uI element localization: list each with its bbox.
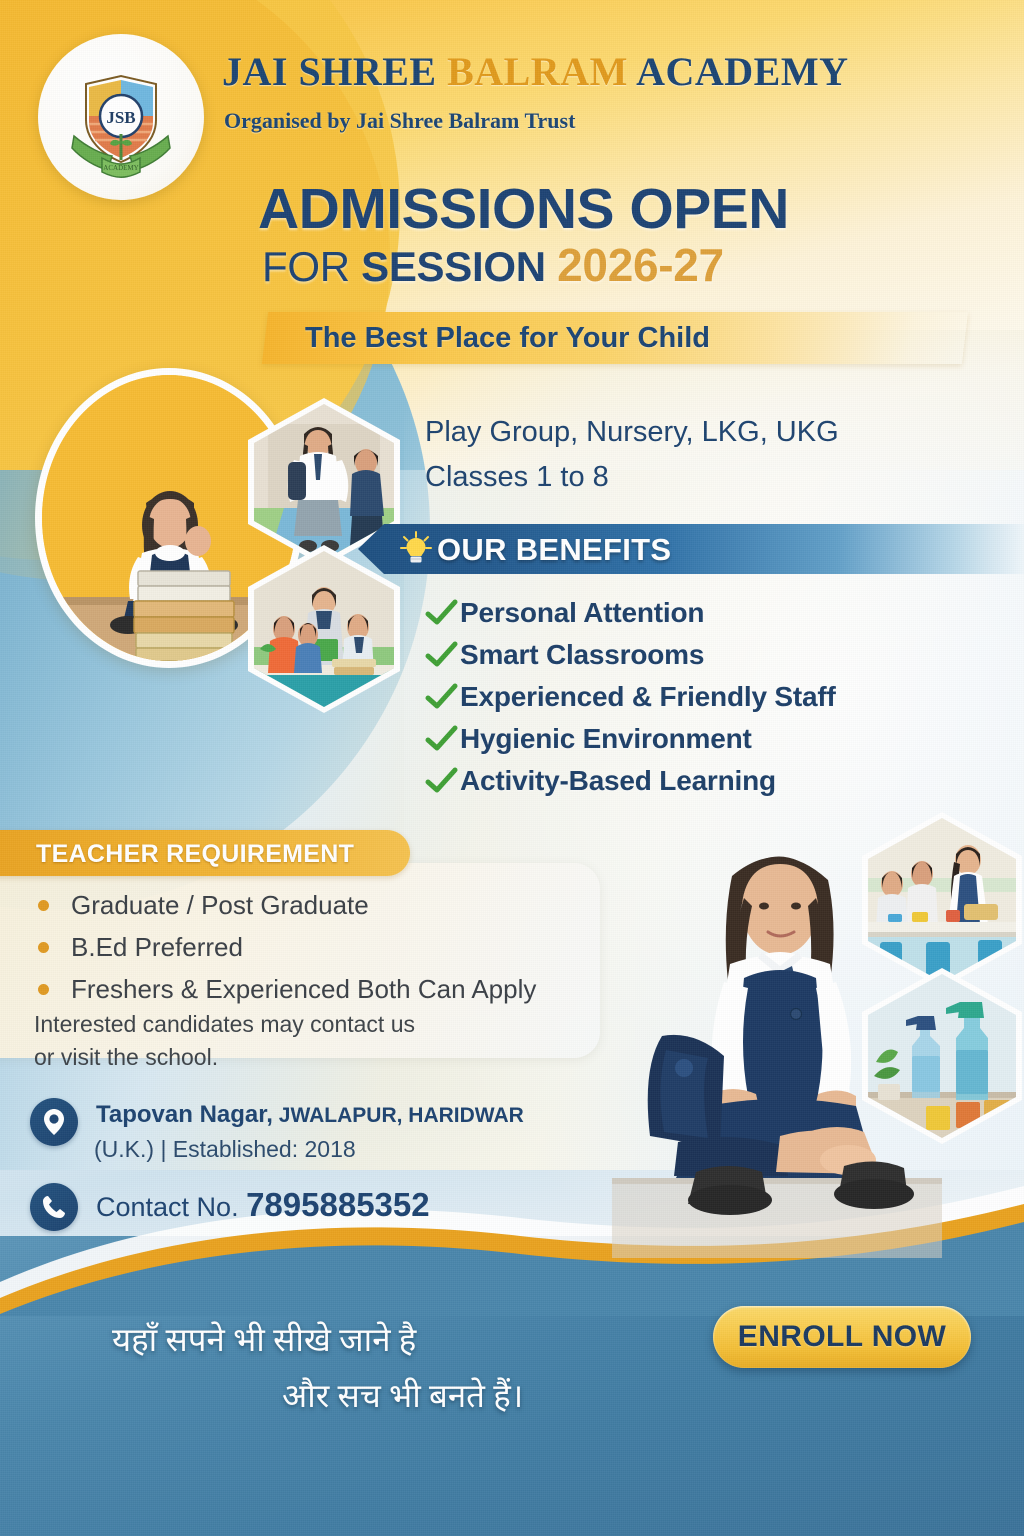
- hindi-tagline-line-1: यहाँ सपने भी सीखे जाने है: [112, 1316, 416, 1361]
- teacher-note-line-2: or visit the school.: [34, 1041, 554, 1074]
- address-line-2: (U.K.) | Established: 2018: [94, 1136, 356, 1163]
- bullet-icon: [38, 900, 49, 911]
- session-for-label: FOR: [262, 243, 361, 290]
- bullet-icon: [38, 942, 49, 953]
- location-pin-icon: [41, 1107, 67, 1137]
- teacher-requirement-item: B.Ed Preferred: [38, 926, 598, 968]
- enroll-now-button[interactable]: ENROLL NOW: [713, 1306, 971, 1368]
- hindi-tagline-line-2: और सच भी बनते हैं।: [282, 1372, 523, 1417]
- benefits-title: OUR BENEFITS: [437, 532, 671, 568]
- benefit-item: Hygienic Environment: [424, 718, 984, 760]
- admissions-headline: ADMISSIONS OPEN: [258, 176, 789, 242]
- check-icon: [424, 725, 460, 753]
- classes-offered: Play Group, Nursery, LKG, UKG Classes 1 …: [425, 410, 985, 500]
- school-logo-badge: JSB ACADEMY: [38, 34, 204, 200]
- phone-icon: [41, 1194, 67, 1220]
- check-icon: [424, 599, 460, 627]
- teacher-requirement-list: Graduate / Post Graduate B.Ed Preferred …: [38, 884, 598, 1010]
- svg-text:ACADEMY: ACADEMY: [103, 164, 138, 172]
- contact-number-line[interactable]: Contact No. 7895885352: [96, 1186, 430, 1224]
- benefit-label: Activity-Based Learning: [460, 765, 776, 797]
- teacher-requirement-item: Freshers & Experienced Both Can Apply: [38, 968, 598, 1010]
- teacher-requirement-label: Graduate / Post Graduate: [71, 890, 369, 921]
- lightbulb-icon: [398, 530, 434, 566]
- benefit-label: Hygienic Environment: [460, 723, 752, 755]
- benefit-item: Smart Classrooms: [424, 634, 984, 676]
- check-icon: [424, 641, 460, 669]
- teacher-requirement-label: B.Ed Preferred: [71, 932, 243, 963]
- classes-line-1: Play Group, Nursery, LKG, UKG: [425, 410, 985, 455]
- benefit-item: Activity-Based Learning: [424, 760, 984, 802]
- school-crest-icon: JSB ACADEMY: [58, 54, 184, 180]
- address-primary: Tapovan Nagar,: [96, 1101, 273, 1128]
- benefits-list: Personal Attention Smart Classrooms Expe…: [424, 592, 984, 802]
- benefit-item: Experienced & Friendly Staff: [424, 676, 984, 718]
- teacher-requirement-label: Freshers & Experienced Both Can Apply: [71, 974, 536, 1005]
- teacher-note-line-1: Interested candidates may contact us: [34, 1008, 554, 1041]
- teacher-requirement-item: Graduate / Post Graduate: [38, 884, 598, 926]
- location-pin-badge: [30, 1098, 78, 1146]
- classes-line-2: Classes 1 to 8: [425, 455, 985, 500]
- bullet-icon: [38, 984, 49, 995]
- admissions-poster: JSB ACADEMY JAI SHREE BALRAM ACADEMY Org…: [0, 0, 1024, 1536]
- teacher-contact-note: Interested candidates may contact us or …: [34, 1008, 554, 1073]
- address-secondary: JWALAPUR, HARIDWAR: [273, 1104, 524, 1127]
- school-name-part2: ACADEMY: [628, 49, 849, 94]
- address-line-1: Tapovan Nagar, JWALAPUR, HARIDWAR: [96, 1101, 524, 1129]
- session-years: 2026-27: [557, 239, 724, 291]
- session-word: SESSION: [361, 243, 557, 290]
- trust-subtitle: Organised by Jai Shree Balram Trust: [224, 108, 575, 134]
- school-name-highlight: BALRAM: [447, 49, 628, 94]
- teacher-requirement-title: TEACHER REQUIREMENT: [36, 840, 354, 869]
- contact-number[interactable]: 7895885352: [246, 1186, 430, 1223]
- check-icon: [424, 767, 460, 795]
- contact-label: Contact No.: [96, 1192, 246, 1222]
- benefit-label: Experienced & Friendly Staff: [460, 681, 836, 713]
- benefit-item: Personal Attention: [424, 592, 984, 634]
- school-name-title: JAI SHREE BALRAM ACADEMY: [222, 48, 849, 95]
- school-name-part1: JAI SHREE: [222, 49, 447, 94]
- svg-text:JSB: JSB: [106, 108, 135, 127]
- benefit-label: Smart Classrooms: [460, 639, 704, 671]
- tagline-text: The Best Place for Your Child: [305, 322, 710, 355]
- phone-badge: [30, 1183, 78, 1231]
- benefit-label: Personal Attention: [460, 597, 704, 629]
- session-subheadline: FOR SESSION 2026-27: [262, 238, 724, 292]
- check-icon: [424, 683, 460, 711]
